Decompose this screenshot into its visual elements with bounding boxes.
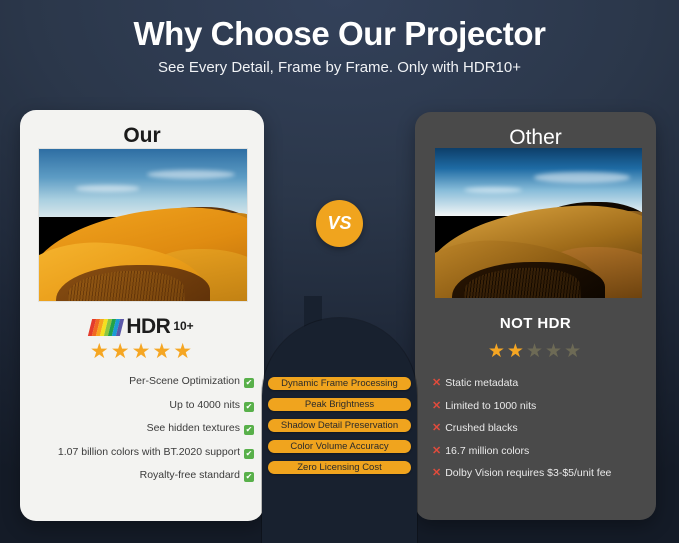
other-thumbnail-image xyxy=(435,148,642,298)
other-card[interactable]: Other NOT HDR ★★★★★ ✕Static metadata✕Lim… xyxy=(415,112,656,520)
dune-layers xyxy=(435,148,642,298)
star-icon: ★ xyxy=(152,340,173,363)
star-icon: ★ xyxy=(488,341,507,362)
list-item: Per-Scene Optimization✔ xyxy=(26,375,254,388)
feature-pill[interactable]: Dynamic Frame Processing xyxy=(268,377,411,390)
vs-badge: VS xyxy=(316,200,363,247)
other-star-rating: ★★★★★ xyxy=(415,340,656,363)
feature-pill[interactable]: Shadow Detail Preservation xyxy=(268,419,411,432)
feature-pill-list: Dynamic Frame ProcessingPeak BrightnessS… xyxy=(268,377,411,482)
cross-icon: ✕ xyxy=(432,377,441,389)
star-icon: ★ xyxy=(564,341,583,362)
feature-pill[interactable]: Peak Brightness xyxy=(268,398,411,411)
list-item: ✕Crushed blacks xyxy=(432,422,647,434)
page-header: Why Choose Our Projector See Every Detai… xyxy=(0,14,679,78)
infographic-root: Why Choose Our Projector See Every Detai… xyxy=(0,0,679,543)
list-item: ✕16.7 million colors xyxy=(432,445,647,457)
our-card-heading: Our xyxy=(20,123,264,149)
cross-icon: ✕ xyxy=(432,467,441,479)
list-item: Up to 4000 nits✔ xyxy=(26,399,254,412)
feature-label: Royalty-free standard xyxy=(140,469,240,481)
star-icon: ★ xyxy=(90,340,111,363)
list-item: Royalty-free standard✔ xyxy=(26,469,254,482)
star-icon: ★ xyxy=(132,340,153,363)
list-item: ✕Static metadata xyxy=(432,377,647,389)
check-icon: ✔ xyxy=(244,402,254,412)
feature-label: 16.7 million colors xyxy=(445,445,529,457)
our-feature-list: Per-Scene Optimization✔Up to 4000 nits✔S… xyxy=(26,375,254,493)
check-icon: ✔ xyxy=(244,425,254,435)
our-thumbnail-image xyxy=(38,148,248,302)
cross-icon: ✕ xyxy=(432,422,441,434)
feature-pill[interactable]: Color Volume Accuracy xyxy=(268,440,411,453)
feature-label: Limited to 1000 nits xyxy=(445,400,536,412)
hdr-color-bars-icon xyxy=(88,319,124,336)
list-item: ✕Dolby Vision requires $3-$5/unit fee xyxy=(432,467,647,479)
dune-layers xyxy=(39,149,247,301)
list-item: 1.07 billion colors with BT.2020 support… xyxy=(26,446,254,459)
check-icon: ✔ xyxy=(244,449,254,459)
list-item: See hidden textures✔ xyxy=(26,422,254,435)
feature-label: Dolby Vision requires $3-$5/unit fee xyxy=(445,467,611,479)
hdr-version-label: 10+ xyxy=(173,317,193,336)
not-hdr-label: NOT HDR xyxy=(415,315,656,332)
list-item: ✕Limited to 1000 nits xyxy=(432,400,647,412)
cross-icon: ✕ xyxy=(432,445,441,457)
our-card[interactable]: Our HDR 10+ ★★★★★ Per-Scene Op xyxy=(20,110,264,521)
feature-pill[interactable]: Zero Licensing Cost xyxy=(268,461,411,474)
feature-label: 1.07 billion colors with BT.2020 support xyxy=(58,446,240,458)
star-icon: ★ xyxy=(111,340,132,363)
page-title: Why Choose Our Projector xyxy=(0,14,679,54)
feature-label: See hidden textures xyxy=(147,422,240,434)
feature-label: Up to 4000 nits xyxy=(169,399,240,411)
star-icon: ★ xyxy=(507,341,526,362)
check-icon: ✔ xyxy=(244,378,254,388)
star-icon: ★ xyxy=(526,341,545,362)
other-feature-list: ✕Static metadata✕Limited to 1000 nits✕Cr… xyxy=(432,377,647,490)
hdr10plus-logo: HDR 10+ xyxy=(20,314,264,336)
star-icon: ★ xyxy=(545,341,564,362)
star-icon: ★ xyxy=(173,340,194,363)
feature-label: Crushed blacks xyxy=(445,422,517,434)
feature-label: Static metadata xyxy=(445,377,518,389)
page-subtitle: See Every Detail, Frame by Frame. Only w… xyxy=(0,58,679,78)
cross-icon: ✕ xyxy=(432,400,441,412)
hdr-wordmark: HDR xyxy=(126,317,170,336)
check-icon: ✔ xyxy=(244,472,254,482)
our-star-rating: ★★★★★ xyxy=(20,339,264,364)
feature-label: Per-Scene Optimization xyxy=(129,375,240,387)
